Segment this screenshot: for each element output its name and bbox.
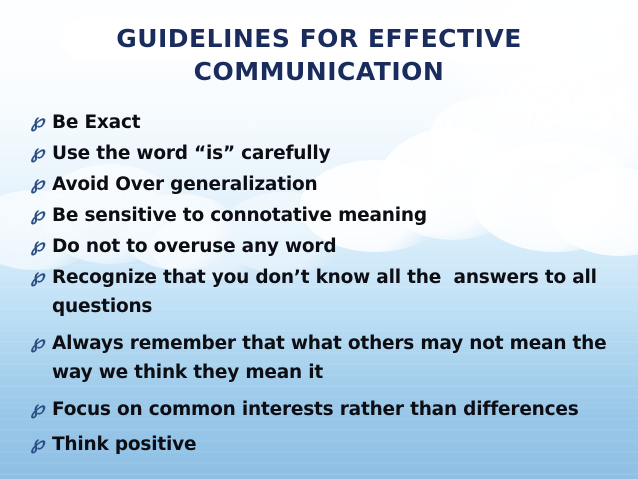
list-item-label: Use the word “is” carefully	[52, 139, 631, 168]
swirl-bullet-icon: ℘	[31, 231, 52, 260]
list-item: ℘ Recognize that you don’t know all the …	[31, 263, 631, 321]
list-item: ℘ Always remember that what others may n…	[31, 329, 631, 387]
list-item: ℘ Think positive	[31, 430, 631, 459]
swirl-bullet-icon: ℘	[31, 429, 52, 458]
list-item: ℘ Be Exact	[31, 108, 631, 137]
list-item-label: Be Exact	[52, 108, 631, 137]
list-item: ℘ Be sensitive to connotative meaning	[31, 201, 631, 230]
list-item-label: Do not to overuse any word	[52, 232, 631, 261]
list-item-label: Avoid Over generalization	[52, 170, 631, 199]
swirl-bullet-icon: ℘	[31, 200, 52, 229]
list-item-label: Think positive	[52, 430, 631, 459]
swirl-bullet-icon: ℘	[31, 138, 52, 167]
list-item-label: Focus on common interests rather than di…	[52, 395, 631, 424]
list-item-label: Always remember that what others may not…	[52, 329, 631, 387]
list-item: ℘ Avoid Over generalization	[31, 170, 631, 199]
list-item: ℘ Use the word “is” carefully	[31, 139, 631, 168]
page-title: GUIDELINES FOR EFFECTIVE COMMUNICATION	[30, 22, 608, 88]
slide: GUIDELINES FOR EFFECTIVE COMMUNICATION ℘…	[0, 0, 638, 479]
list-item-label: Recognize that you don’t know all the an…	[52, 263, 631, 321]
list-item-label: Be sensitive to connotative meaning	[52, 201, 631, 230]
swirl-bullet-icon: ℘	[31, 394, 52, 423]
swirl-bullet-icon: ℘	[31, 262, 52, 291]
swirl-bullet-icon: ℘	[31, 328, 52, 357]
list-item: ℘ Focus on common interests rather than …	[31, 395, 631, 424]
swirl-bullet-icon: ℘	[31, 107, 52, 136]
swirl-bullet-icon: ℘	[31, 169, 52, 198]
list-item: ℘ Do not to overuse any word	[31, 232, 631, 261]
guidelines-list: ℘ Be Exact ℘ Use the word “is” carefully…	[31, 108, 631, 461]
